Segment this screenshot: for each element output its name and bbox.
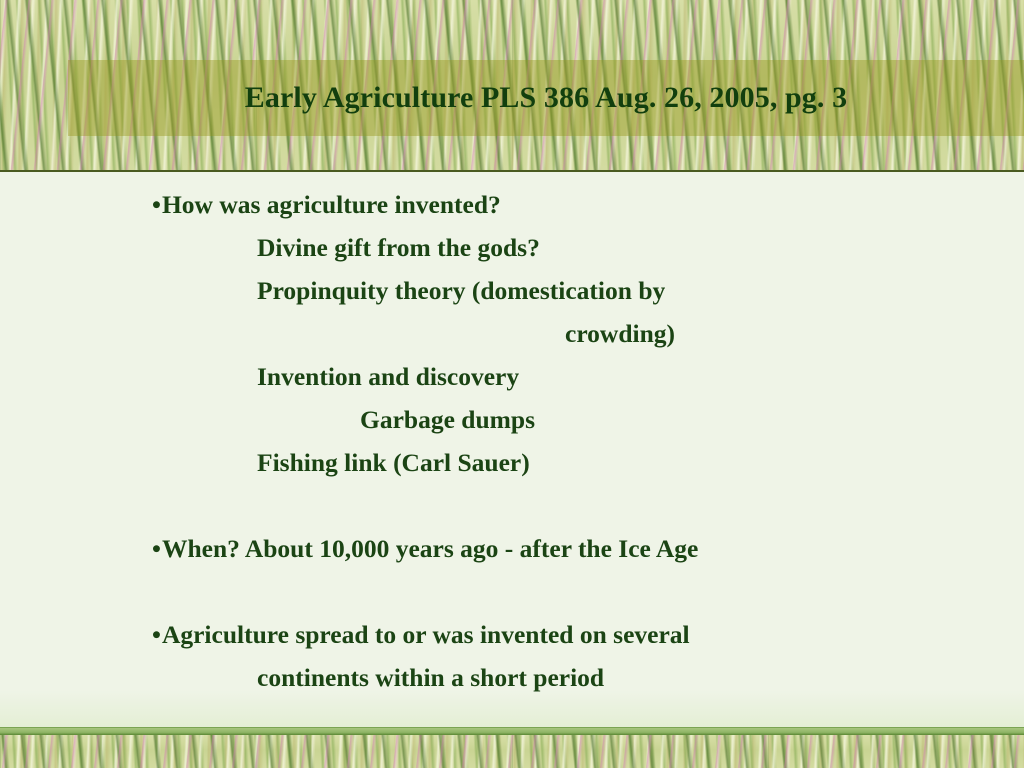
sub-line-invention-discovery: Invention and discovery <box>0 355 1024 398</box>
bullet-point-icon: • <box>152 620 161 649</box>
paragraph-spacer-1 <box>0 484 1024 527</box>
bullet-point-icon: • <box>152 190 161 219</box>
sub-line-divine-gift: Divine gift from the gods? <box>0 226 1024 269</box>
sub-line-garbage-dumps: Garbage dumps <box>0 398 1024 441</box>
sub-line-fishing-link: Fishing link (Carl Sauer) <box>0 441 1024 484</box>
grass-texture-bottom-banner <box>0 735 1024 768</box>
slide-body: •How was agriculture invented? Divine gi… <box>0 183 1024 699</box>
bullet-line-1: •How was agriculture invented? <box>0 183 1024 226</box>
sub-line-crowding: crowding) <box>0 312 1024 355</box>
bullet-text-1: How was agriculture invented? <box>162 190 501 219</box>
bullet-point-icon: • <box>152 534 161 563</box>
bullet-text-3: Agriculture spread to or was invented on… <box>162 620 690 649</box>
bullet-line-2: •When? About 10,000 years ago - after th… <box>0 527 1024 570</box>
bullet-line-3: •Agriculture spread to or was invented o… <box>0 613 1024 656</box>
slide-canvas: Early Agriculture PLS 386 Aug. 26, 2005,… <box>0 0 1024 768</box>
bullet-text-2: When? About 10,000 years ago - after the… <box>162 534 698 563</box>
sub-line-continents: continents within a short period <box>0 656 1024 699</box>
paragraph-spacer-2 <box>0 570 1024 613</box>
slide-title: Early Agriculture PLS 386 Aug. 26, 2005,… <box>68 60 1024 136</box>
sub-line-propinquity-theory: Propinquity theory (domestication by <box>0 269 1024 312</box>
